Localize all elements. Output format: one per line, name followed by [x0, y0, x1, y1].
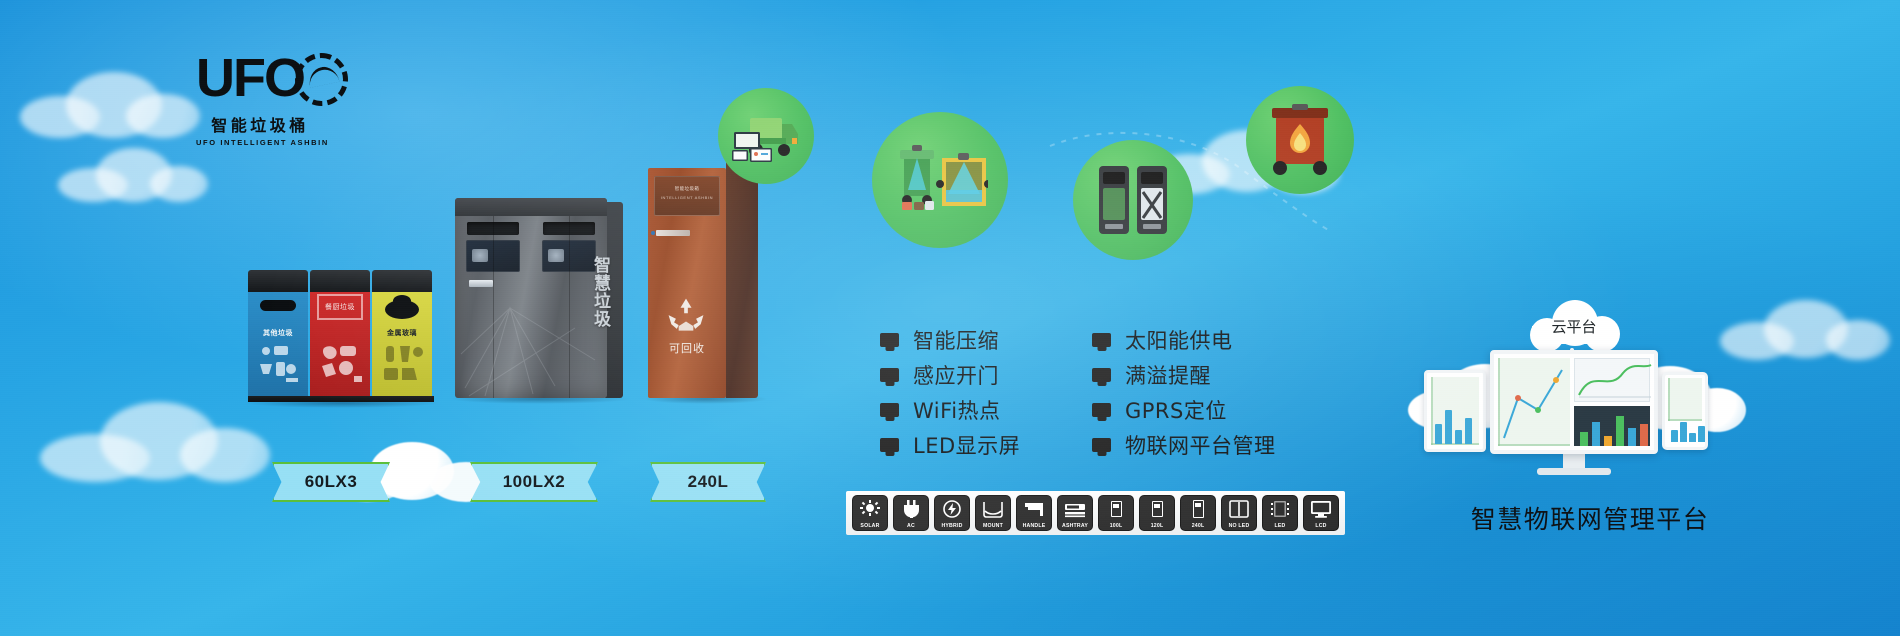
cloud-decoration: [1720, 300, 1890, 360]
banner-stage: UFO 智能垃圾桶 UFO INTELLIGENT ASHBIN 其他垃圾: [0, 0, 1900, 636]
tablet-screen: [1427, 373, 1483, 449]
feature-item: LED显示屏: [880, 427, 1020, 462]
bar-widget: [1435, 424, 1442, 444]
bin-graphic: [318, 342, 362, 384]
dashboard-stats-panel: [1574, 406, 1650, 446]
feature-label: GPRS定位: [1125, 395, 1227, 425]
spec-caption: 240L: [1181, 523, 1215, 529]
bin-side-panel: [726, 162, 758, 398]
spec-caption: LCD: [1304, 523, 1338, 529]
bin-graphic: [380, 342, 424, 384]
handle-icon: [1022, 499, 1046, 519]
led-panel-icon: [1268, 499, 1292, 519]
bin-compartment-label: 其他垃圾: [248, 328, 308, 338]
spec-caption: NO LED: [1222, 523, 1256, 529]
bar-widget: [1445, 410, 1452, 444]
spec-led[interactable]: LED: [1262, 495, 1298, 531]
spec-icon-strip: SOLAR AC HYBRID: [846, 491, 1345, 535]
capacity-label: 240L: [688, 472, 729, 492]
bin-slot-icon: [467, 222, 519, 235]
bin-base: [248, 396, 434, 402]
bin-compartment-label: 餐厨垃圾: [325, 302, 355, 312]
cloud-platform-label: 云平台: [1526, 316, 1622, 337]
feature-item: 物联网平台管理: [1092, 427, 1276, 462]
bin-hood: [372, 270, 432, 292]
no-led-panel-icon: [1227, 499, 1251, 519]
dashboard-map-panel: [1498, 358, 1570, 446]
bin-120l-icon: [1145, 499, 1169, 519]
spec-caption: 100L: [1099, 523, 1133, 529]
product-triple-bin[interactable]: 其他垃圾 餐厨垃圾: [248, 270, 434, 396]
bin-fill-level-sensor-icon: [894, 144, 988, 218]
bin-compartment-metal-glass: 金属玻璃: [372, 270, 432, 396]
monitor-base: [1537, 468, 1611, 475]
feature-item: 满溢提醒: [1092, 357, 1276, 392]
device-smartphone[interactable]: [1662, 372, 1708, 450]
bin-hood: [310, 270, 370, 292]
feature-label: 感应开门: [913, 360, 999, 390]
bar-widget: [1465, 418, 1472, 444]
circle-fill-level: [872, 112, 1008, 248]
feature-label: 满溢提醒: [1125, 360, 1211, 390]
spec-mount[interactable]: MOUNT: [975, 495, 1011, 531]
monitor-screen: [1490, 350, 1658, 454]
feature-item: WiFi热点: [880, 392, 1020, 427]
bar-widget: [1455, 430, 1462, 444]
monitor-neck: [1563, 454, 1585, 468]
spec-caption: AC: [894, 523, 928, 529]
feature-item: 太阳能供电: [1092, 322, 1276, 357]
bin-compartment-kitchen: 餐厨垃圾: [310, 270, 370, 396]
monitor-bullet-icon: [1092, 438, 1111, 452]
product-double-bin[interactable]: 智慧垃圾: [455, 198, 607, 398]
spec-caption: HANDLE: [1017, 523, 1051, 529]
phone-screen: [1665, 375, 1705, 447]
capacity-badge-100lx2: 100LX2: [470, 462, 598, 502]
spec-120l[interactable]: 120L: [1139, 495, 1175, 531]
bar-widget: [1680, 422, 1687, 442]
monitor-bullet-icon: [1092, 333, 1111, 347]
monitor-bullet-icon: [880, 333, 899, 347]
spec-lcd[interactable]: LCD: [1303, 495, 1339, 531]
monitor-bullet-icon: [880, 403, 899, 417]
capacity-label: 60LX3: [305, 472, 358, 492]
capacity-label: 100LX2: [503, 472, 566, 492]
feature-item: 智能压缩: [880, 322, 1020, 357]
device-tablet[interactable]: [1424, 370, 1486, 452]
bin-graphic: [256, 342, 300, 384]
feature-column-1: 智能压缩 感应开门 WiFi热点 LED显示屏: [880, 322, 1020, 462]
spec-handle[interactable]: HANDLE: [1016, 495, 1052, 531]
platform-caption: 智慧物联网管理平台: [1440, 500, 1740, 536]
circle-fire-detection: [1246, 86, 1354, 194]
circle-compaction: [1073, 140, 1193, 260]
spec-240l[interactable]: 240L: [1180, 495, 1216, 531]
power-plug-icon: [899, 499, 923, 519]
feature-column-2: 太阳能供电 满溢提醒 GPRS定位 物联网平台管理: [1092, 322, 1276, 462]
bin-header-line2: INTELLIGENT ASHBIN: [655, 195, 719, 200]
wall-mount-icon: [981, 499, 1005, 519]
circle-fleet-management: [718, 88, 814, 184]
sun-solar-icon: [858, 499, 882, 519]
bin-slot-icon: [385, 300, 419, 319]
bar-widget: [1698, 426, 1705, 442]
monitor-bullet-icon: [880, 368, 899, 382]
capacity-badge-240l: 240L: [650, 462, 766, 502]
device-desktop-monitor[interactable]: [1490, 350, 1658, 475]
dashboard-chart-panel: [1574, 358, 1650, 402]
feature-item: 感应开门: [880, 357, 1020, 392]
spec-caption: 120L: [1140, 523, 1174, 529]
spec-ac[interactable]: AC: [893, 495, 929, 531]
bin-hood: [455, 198, 607, 216]
product-group: 其他垃圾 餐厨垃圾: [0, 0, 760, 520]
bin-slot-icon: [260, 300, 296, 311]
bar-widget: [1689, 433, 1696, 442]
monitor-bullet-icon: [880, 438, 899, 452]
bin-plate: 餐厨垃圾: [317, 294, 363, 320]
spec-caption: MOUNT: [976, 523, 1010, 529]
bin-texture: [455, 268, 607, 398]
spec-no-led[interactable]: NO LED: [1221, 495, 1257, 531]
feature-label: 物联网平台管理: [1125, 430, 1276, 460]
spec-100l[interactable]: 100L: [1098, 495, 1134, 531]
lcd-monitor-icon: [1309, 499, 1333, 519]
spec-caption: LED: [1263, 523, 1297, 529]
bin-label-plate: [656, 230, 690, 236]
bin-slot-icon: [543, 222, 595, 235]
ashtray-icon: [1063, 499, 1087, 519]
bin-header-line1: 智能垃圾箱: [655, 186, 719, 192]
fire-detection-bin-icon: [1268, 104, 1332, 176]
feature-label: 智能压缩: [913, 325, 999, 355]
spec-caption: SOLAR: [853, 523, 887, 529]
bin-compartment-general: 其他垃圾: [248, 270, 308, 396]
spec-caption: HYBRID: [935, 523, 969, 529]
monitor-bullet-icon: [1092, 403, 1111, 417]
spec-hybrid[interactable]: HYBRID: [934, 495, 970, 531]
bin-hood: [248, 270, 308, 292]
feature-item: GPRS定位: [1092, 392, 1276, 427]
spec-solar[interactable]: SOLAR: [852, 495, 888, 531]
dual-compaction-bin-icon: [1097, 162, 1169, 238]
hybrid-bolt-icon: [940, 499, 964, 519]
bin-compartment-label: 金属玻璃: [372, 328, 432, 338]
feature-label: 太阳能供电: [1125, 325, 1233, 355]
bin-recycle-label: 可回收: [648, 340, 726, 356]
bin-header-panel: 智能垃圾箱 INTELLIGENT ASHBIN: [654, 176, 720, 216]
bar-widget: [1671, 430, 1678, 442]
monitor-bullet-icon: [1092, 368, 1111, 382]
feature-label: WiFi热点: [913, 395, 1001, 425]
garbage-truck-and-devices-icon: [732, 114, 802, 164]
spec-caption: ASHTRAY: [1058, 523, 1092, 529]
capacity-badge-60lx3: 60LX3: [272, 462, 390, 502]
recycle-icon: [662, 294, 714, 338]
map-widget: [1668, 378, 1702, 421]
product-brown-bin[interactable]: 智能垃圾箱 INTELLIGENT ASHBIN 可回收: [648, 168, 758, 398]
feature-label: LED显示屏: [913, 430, 1020, 460]
bin-100l-icon: [1104, 499, 1128, 519]
spec-ashtray[interactable]: ASHTRAY: [1057, 495, 1093, 531]
bin-240l-icon: [1186, 499, 1210, 519]
